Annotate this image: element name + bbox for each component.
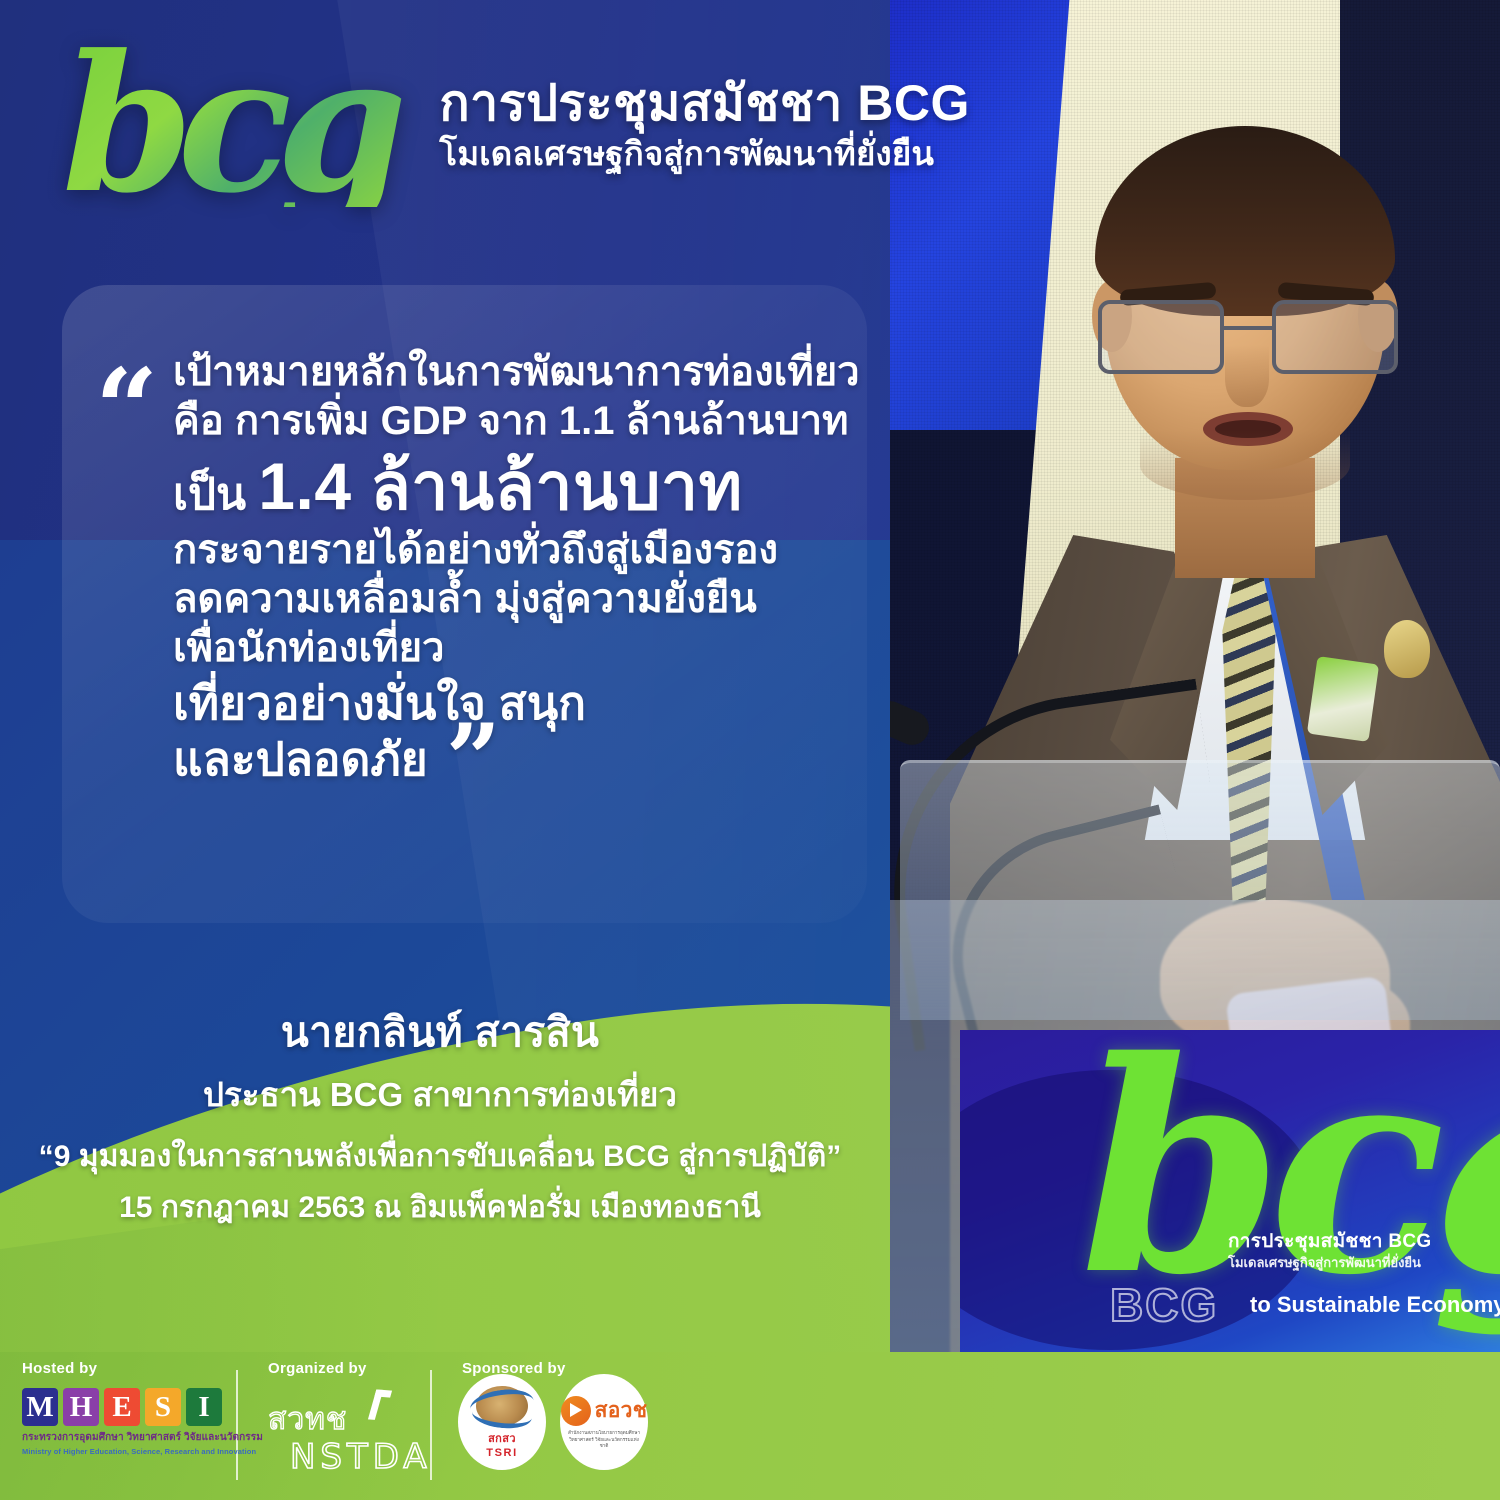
poster-header: bcg การประชุมสมัชชา BCG โมเดลเศรษฐกิจสู่… bbox=[62, 42, 970, 207]
speaker-badge bbox=[1307, 656, 1379, 742]
footer-hosted-col: Hosted by bbox=[22, 1360, 97, 1383]
podium-subtitle-th: โมเดลเศรษฐกิจสู่การพัฒนาที่ยั่งยืน bbox=[1228, 1252, 1421, 1273]
poster-canvas: bcg การประชุมสมัชชา BCG โมเดลเศรษฐกิจสู่… bbox=[0, 0, 1500, 1500]
quote-line-8: และปลอดภัย” bbox=[173, 731, 875, 787]
podium: bcg การประชุมสมัชชา BCG โมเดลเศรษฐกิจสู่… bbox=[890, 900, 1500, 1360]
tsri-glyph-icon bbox=[476, 1386, 528, 1426]
event-block: “9 มุมมองในการสานพลังเพื่อการขับเคลื่อน … bbox=[0, 1133, 880, 1231]
mhesi-thai-name: กระทรวงการอุดมศึกษา วิทยาศาสตร์ วิจัยและ… bbox=[22, 1430, 263, 1445]
header-subtitle: โมเดลเศรษฐกิจสู่การพัฒนาที่ยั่งยืน bbox=[439, 134, 969, 174]
quote-line-3-prefix: เป็น bbox=[173, 470, 258, 519]
nstda-thai-name: สวทช bbox=[268, 1396, 432, 1443]
speaker-nose bbox=[1225, 345, 1269, 407]
attribution-block: นายกลินท์ สารสิน ประธาน BCG สาขาการท่องเ… bbox=[0, 1000, 880, 1121]
quote-open-mark: “ bbox=[95, 354, 158, 464]
organized-by-label: Organized by bbox=[268, 1360, 367, 1377]
event-title: “9 มุมมองในการสานพลังเพื่อการขับเคลื่อน … bbox=[0, 1133, 880, 1180]
podium-glass-panel bbox=[900, 760, 1500, 1020]
quote-line-7: เที่ยวอย่างมั่นใจ สนุก bbox=[173, 675, 875, 731]
mhesi-letter-row: M H E S I bbox=[22, 1388, 263, 1426]
speaker-lapel-pin bbox=[1384, 620, 1430, 678]
sovj-full-name: สำนักงานสภานโยบายการอุดมศึกษา วิทยาศาสตร… bbox=[566, 1430, 642, 1450]
quote-line-5: ลดความเหลื่อมล้ำ มุ่งสู่ความยั่งยืน bbox=[173, 575, 875, 624]
tsri-english-name: TSRI bbox=[486, 1447, 517, 1459]
quote-line-4: กระจายรายได้อย่างทั่วถึงสู่เมืองรอง bbox=[173, 526, 875, 575]
speaker-chin-shadow bbox=[1140, 430, 1350, 500]
tsri-thai-name: สกสว bbox=[488, 1429, 516, 1447]
mhesi-logo: M H E S I กระทรวงการอุดมศึกษา วิทยาศาสตร… bbox=[22, 1388, 263, 1456]
quote-line-8-text: และปลอดภัย bbox=[173, 733, 428, 785]
footer-bar: Hosted by Organized by Sponsored by M H … bbox=[0, 1352, 1500, 1500]
mhesi-letter-e: E bbox=[104, 1388, 140, 1426]
footer-organized-col: Organized by bbox=[268, 1360, 367, 1383]
sponsor-logos: สกสว TSRI สอวช สำนักงานสภานโยบายการอุดมศ… bbox=[458, 1374, 648, 1470]
quote-highlight-amount: 1.4 ล้านล้านบาท bbox=[258, 449, 742, 523]
speaker-name: นายกลินท์ สารสิน bbox=[0, 1000, 880, 1065]
mhesi-letter-s: S bbox=[145, 1388, 181, 1426]
mhesi-letter-i: I bbox=[186, 1388, 222, 1426]
nstda-logo: สวทช NSTDA bbox=[268, 1396, 432, 1477]
podium-bcg-word: BCG bbox=[1110, 1278, 1218, 1332]
speaker-role: ประธาน BCG สาขาการท่องเที่ยว bbox=[0, 1068, 880, 1121]
quote-line-3: เป็น 1.4 ล้านล้านบาท bbox=[173, 448, 875, 526]
tsri-logo: สกสว TSRI bbox=[458, 1374, 546, 1470]
mhesi-letter-m: M bbox=[22, 1388, 58, 1426]
sovj-arrow-icon bbox=[561, 1396, 591, 1426]
hosted-by-label: Hosted by bbox=[22, 1360, 97, 1377]
mhesi-letter-h: H bbox=[63, 1388, 99, 1426]
podium-banner: bcg การประชุมสมัชชา BCG โมเดลเศรษฐกิจสู่… bbox=[960, 1030, 1500, 1360]
header-text-block: การประชุมสมัชชา BCG โมเดลเศรษฐกิจสู่การพ… bbox=[427, 76, 969, 174]
glasses-lens-right bbox=[1272, 300, 1398, 374]
bcg-logo: bcg bbox=[62, 42, 417, 207]
event-date-venue: 15 กรกฎาคม 2563 ณ อิมแพ็คฟอรั่ม เมืองทอง… bbox=[0, 1184, 880, 1231]
sovj-logo: สอวช สำนักงานสภานโยบายการอุดมศึกษา วิทยา… bbox=[560, 1374, 648, 1470]
quote-line-6: เพื่อนักท่องเที่ยว bbox=[173, 624, 875, 673]
speaker-photo: bcg การประชุมสมัชชา BCG โมเดลเศรษฐกิจสู่… bbox=[890, 0, 1500, 1360]
nstda-english-name: NSTDA bbox=[290, 1437, 432, 1477]
quote-lines: เป้าหมายหลักในการพัฒนาการท่องเที่ยว คือ … bbox=[173, 348, 875, 787]
quote-line-2: คือ การเพิ่ม GDP จาก 1.1 ล้านล้านบาท bbox=[173, 397, 875, 447]
quote-block: “ เป้าหมายหลักในการพัฒนาการท่องเที่ยว คื… bbox=[95, 348, 875, 787]
sovj-row: สอวช bbox=[561, 1394, 648, 1427]
glasses-bridge bbox=[1224, 326, 1272, 330]
quote-line-1: เป้าหมายหลักในการพัฒนาการท่องเที่ยว bbox=[173, 348, 875, 397]
header-title: การประชุมสมัชชา BCG bbox=[439, 76, 969, 130]
glasses-lens-left bbox=[1098, 300, 1224, 374]
mhesi-english-name: Ministry of Higher Education, Science, R… bbox=[22, 1447, 263, 1456]
sovj-thai-name: สอวช bbox=[595, 1394, 648, 1427]
podium-sustainable-text: to Sustainable Economy bbox=[1250, 1292, 1500, 1318]
